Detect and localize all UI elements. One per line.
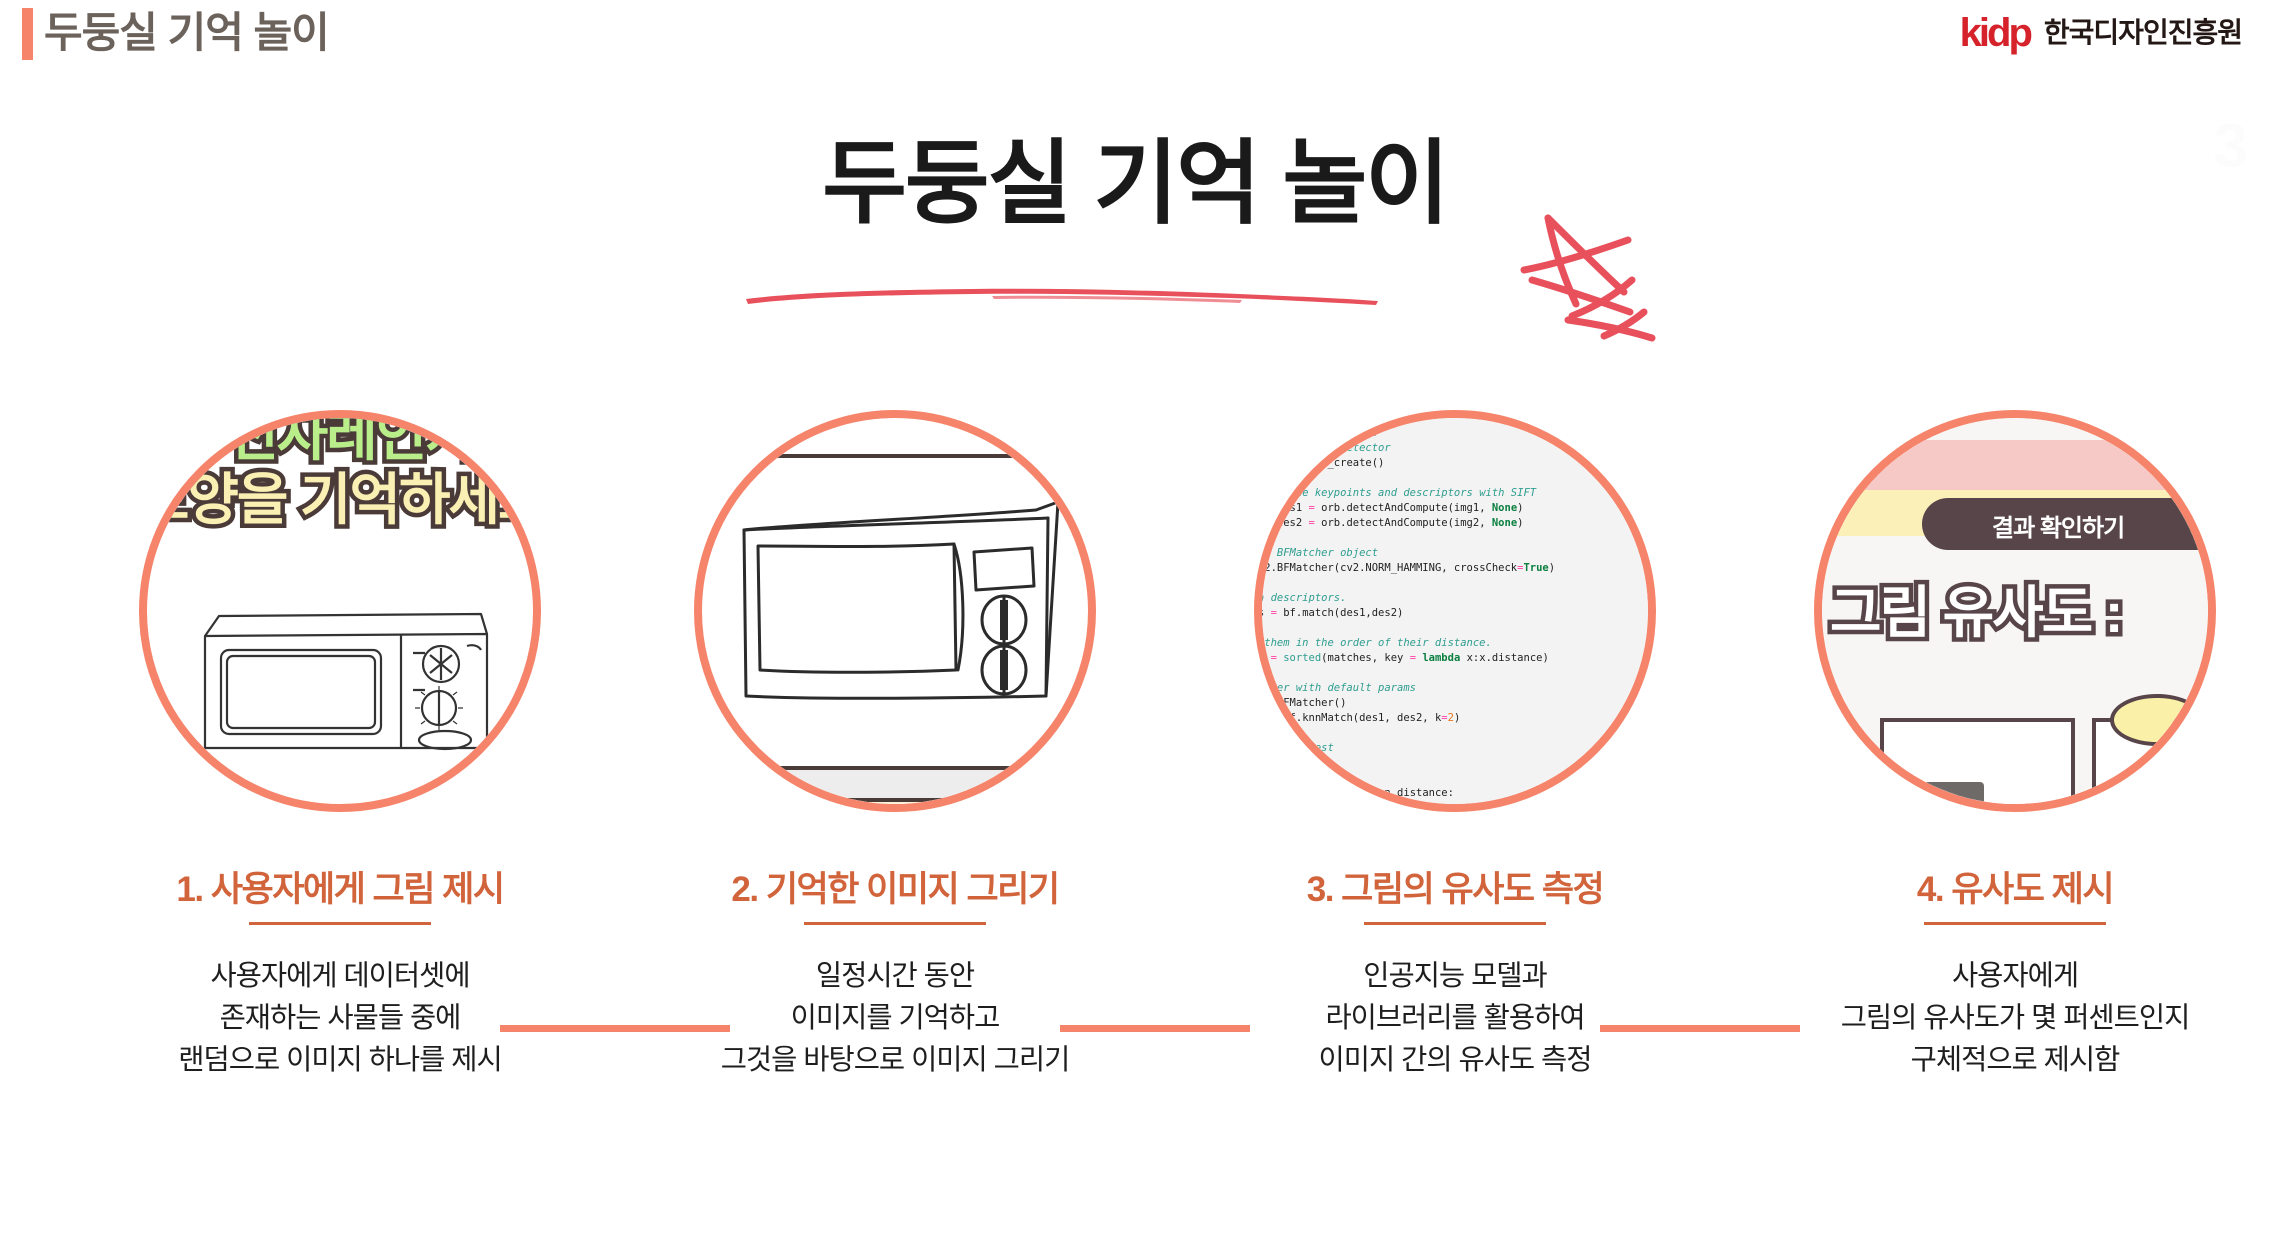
- step-1-circle: 전자레인지 모양을 기억하세요!: [139, 410, 541, 812]
- step-1-body-line-2: 존재하는 사물들 중에: [60, 997, 620, 1039]
- step-3-body-line-2: 라이브러리를 활용하여: [1175, 997, 1735, 1039]
- step-2-body-line-1: 일정시간 동안: [615, 955, 1175, 997]
- step-1: 전자레인지 모양을 기억하세요!: [60, 410, 620, 1081]
- step-3-circle: def compare(img1, img2) : # Initiate ORB…: [1254, 410, 1656, 812]
- step-1-screenshot: 전자레인지 모양을 기억하세요!: [147, 418, 533, 804]
- page-header: 두둥실 기억 놀이 kidp 한국디자인진흥원: [0, 0, 2270, 78]
- step-3-body-line-3: 이미지 간의 유사도 측정: [1175, 1039, 1735, 1081]
- code-editor-content: def compare(img1, img2) : # Initiate ORB…: [1262, 426, 1648, 804]
- step-1-body: 사용자에게 데이터셋에 존재하는 사물들 중에 랜덤으로 이미지 하나를 제시: [60, 955, 620, 1081]
- step-4-pink-band: [1822, 440, 2208, 490]
- step-4-yellow-blob: [2110, 694, 2204, 746]
- step-2-heading-underline: [804, 922, 986, 925]
- header-accent-bar: [22, 8, 33, 60]
- step-1-banner-line-1: 전자레인지: [147, 418, 533, 468]
- step-4-body-line-1: 사용자에게: [1735, 955, 2270, 997]
- step-2-body-line-3: 그것을 바탕으로 이미지 그리기: [615, 1039, 1175, 1081]
- step-3-body-line-1: 인공지능 모델과: [1175, 955, 1735, 997]
- step-4-heading: 4. 유사도 제시: [1735, 868, 2270, 912]
- step-2-toolbar-band: [702, 770, 1088, 798]
- step-4-body: 사용자에게 그림의 유사도가 몇 퍼센트인지 구체적으로 제시함: [1735, 955, 2270, 1081]
- header-title: 두둥실 기억 놀이: [44, 2, 329, 64]
- kidp-logo-mark: kidp: [1960, 12, 2030, 54]
- step-2-cream-band: [702, 802, 1088, 804]
- step-4-circle: 결과 확인하기 그림 유사도 :: [1814, 410, 2216, 812]
- step-4-screenshot: 결과 확인하기 그림 유사도 :: [1822, 418, 2208, 804]
- step-3-body: 인공지능 모델과 라이브러리를 활용하여 이미지 간의 유사도 측정: [1175, 955, 1735, 1081]
- kidp-logo-text: 한국디자인진흥원: [2044, 12, 2242, 54]
- step-1-body-line-3: 랜덤으로 이미지 하나를 제시: [60, 1039, 620, 1081]
- step-1-banner-line-2: 모양을 기억하세요!: [147, 468, 533, 532]
- step-2-body-line-2: 이미지를 기억하고: [615, 997, 1175, 1039]
- step-2: 2. 기억한 이미지 그리기 일정시간 동안 이미지를 기억하고 그것을 바탕으…: [615, 410, 1175, 1081]
- step-2-screenshot: [702, 418, 1088, 804]
- step-1-body-line-1: 사용자에게 데이터셋에: [60, 955, 620, 997]
- similarity-result-label: 그림 유사도 :: [1830, 568, 2121, 649]
- title-star-scribble: [1520, 208, 1680, 358]
- main-title-block: 두둥실 기억 놀이: [0, 130, 2270, 238]
- check-result-button[interactable]: 결과 확인하기: [1922, 498, 2208, 550]
- page-title: 두둥실 기억 놀이: [822, 130, 1448, 238]
- step-2-circle: [694, 410, 1096, 812]
- microwave-line-drawing-icon: [195, 598, 495, 758]
- step-2-rule-top: [702, 454, 1088, 458]
- step-4-body-line-3: 구체적으로 제시함: [1735, 1039, 2270, 1081]
- check-result-button-label: 결과 확인하기: [1992, 508, 2124, 543]
- step-1-heading: 1. 사용자에게 그림 제시: [60, 868, 620, 912]
- step-4-image-card-left: [1880, 718, 2075, 804]
- step-1-banner: 전자레인지 모양을 기억하세요!: [147, 418, 533, 532]
- step-4-card-chip: [1924, 782, 1984, 804]
- steps-row: 전자레인지 모양을 기억하세요!: [0, 410, 2270, 1210]
- kidp-logo: kidp 한국디자인진흥원: [1960, 12, 2242, 54]
- title-brush-underline: [742, 284, 1382, 306]
- step-4: 결과 확인하기 그림 유사도 : 4. 유사도 제시 사용자에게 그림의 유사도…: [1735, 410, 2270, 1081]
- step-3-heading-underline: [1364, 922, 1546, 925]
- step-1-heading-underline: [249, 922, 431, 925]
- step-2-body: 일정시간 동안 이미지를 기억하고 그것을 바탕으로 이미지 그리기: [615, 955, 1175, 1081]
- step-2-heading: 2. 기억한 이미지 그리기: [615, 868, 1175, 912]
- step-4-heading-underline: [1924, 922, 2106, 925]
- step-3-heading: 3. 그림의 유사도 측정: [1175, 868, 1735, 912]
- step-4-body-line-2: 그림의 유사도가 몇 퍼센트인지: [1735, 997, 2270, 1039]
- step-3: def compare(img1, img2) : # Initiate ORB…: [1175, 410, 1735, 1081]
- step-3-screenshot: def compare(img1, img2) : # Initiate ORB…: [1262, 418, 1648, 804]
- hand-drawn-microwave-sketch-icon: [736, 500, 1066, 720]
